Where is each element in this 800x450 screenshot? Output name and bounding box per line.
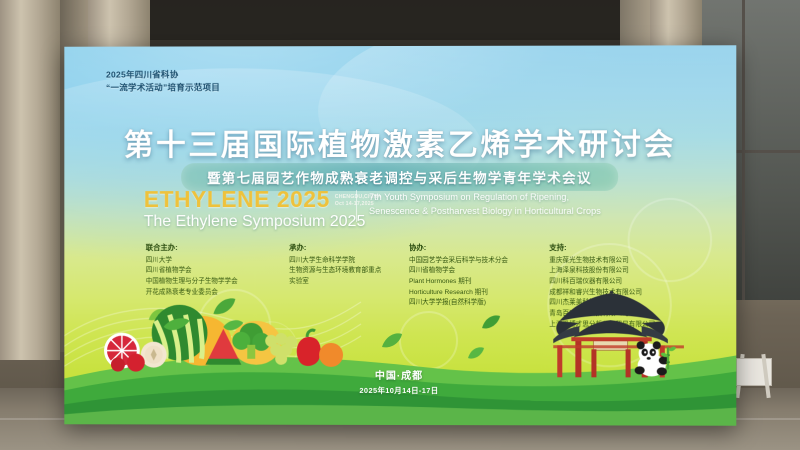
screenshot-scene: 2025年四川省科协 “一流学术活动”培育示范项目 第十三届国际植物激素乙烯学术… (0, 0, 800, 450)
organizer-item: Plant Hormones 期刊 (409, 277, 549, 288)
english-subtitle-line1: 7th Youth Symposium on Regulation of Rip… (369, 190, 670, 204)
sponsor-note-line2: “一流学术活动”培育示范项目 (106, 81, 220, 94)
organizer-item: 四川科百瑞仪器有限公司 (549, 277, 700, 288)
organizer-heading: 协办: (409, 242, 549, 253)
a-frame-sign (734, 354, 772, 398)
sponsor-note-line1: 2025年四川省科协 (106, 68, 220, 81)
organizer-item: 重庆葆光生物技术有限公司 (549, 256, 700, 267)
entrance-header (150, 0, 620, 40)
organizer-item: 四川省植物学会 (146, 266, 289, 277)
ethylene-tagline: The Ethylene Symposium 2025 (144, 212, 382, 231)
logo-divider (356, 190, 357, 222)
footer-city: 中国·成都 (64, 366, 736, 382)
english-subtitle-line2: Senescence & Postharvest Biology in Hort… (369, 204, 670, 218)
footer-date: 2025年10月14日-17日 (64, 384, 736, 396)
english-subtitle: 7th Youth Symposium on Regulation of Rip… (369, 190, 670, 219)
ethylene-wordmark: ETHYLENE 2025 (144, 188, 330, 211)
panda-nose (647, 357, 651, 360)
organizer-heading: 承办: (289, 242, 409, 253)
pavilion-roof (559, 293, 661, 321)
stone-pillar (0, 0, 60, 360)
produce-illustration (94, 293, 343, 373)
organizer-item: 生物资源与生态环境教育部重点 (289, 266, 409, 277)
banner-main-title: 第十三届国际植物激素乙烯学术研讨会 (64, 120, 736, 165)
panda-ear (653, 341, 661, 349)
organizer-heading: 支持: (549, 242, 700, 253)
organizer-item: 四川大学 (146, 255, 289, 266)
organizer-heading: 联合主办: (146, 242, 289, 253)
banner-subtitle: 暨第七届园艺作物成熟衰老调控与采后生物学青年学术会议 (207, 167, 592, 187)
organizer-item: 四川省植物学会 (409, 266, 549, 277)
conference-backdrop-banner: 2025年四川省科协 “一流学术活动”培育示范项目 第十三届国际植物激素乙烯学术… (64, 45, 736, 425)
organizer-item: 中国园艺学会采后科学与技术分会 (409, 256, 549, 267)
organizer-item: Horticulture Research 期刊 (409, 288, 549, 299)
organizer-item: 四川大学生命科学学院 (289, 255, 409, 266)
peach-icon (319, 343, 343, 367)
bell-pepper-icon (297, 337, 321, 366)
organizer-item: 上海泽泉科技股份有限公司 (549, 266, 700, 277)
sponsor-note: 2025年四川省科协 “一流学术活动”培育示范项目 (106, 68, 220, 94)
panda-ear (637, 341, 645, 349)
organizer-item: 四川大学学报(自然科学版) (409, 298, 549, 309)
ethylene-logo-lockup: ETHYLENE 2025 CHENGDU,CHINA Oct 14-17,20… (144, 188, 382, 231)
organizer-item: 中国植物生理与分子生物学学会 (146, 277, 289, 288)
organizer-item: 实验室 (289, 277, 409, 288)
organizer-column-coorganizer: 协办: 中国园艺学会采后科学与技术分会 四川省植物学会 Plant Hormon… (409, 242, 549, 330)
